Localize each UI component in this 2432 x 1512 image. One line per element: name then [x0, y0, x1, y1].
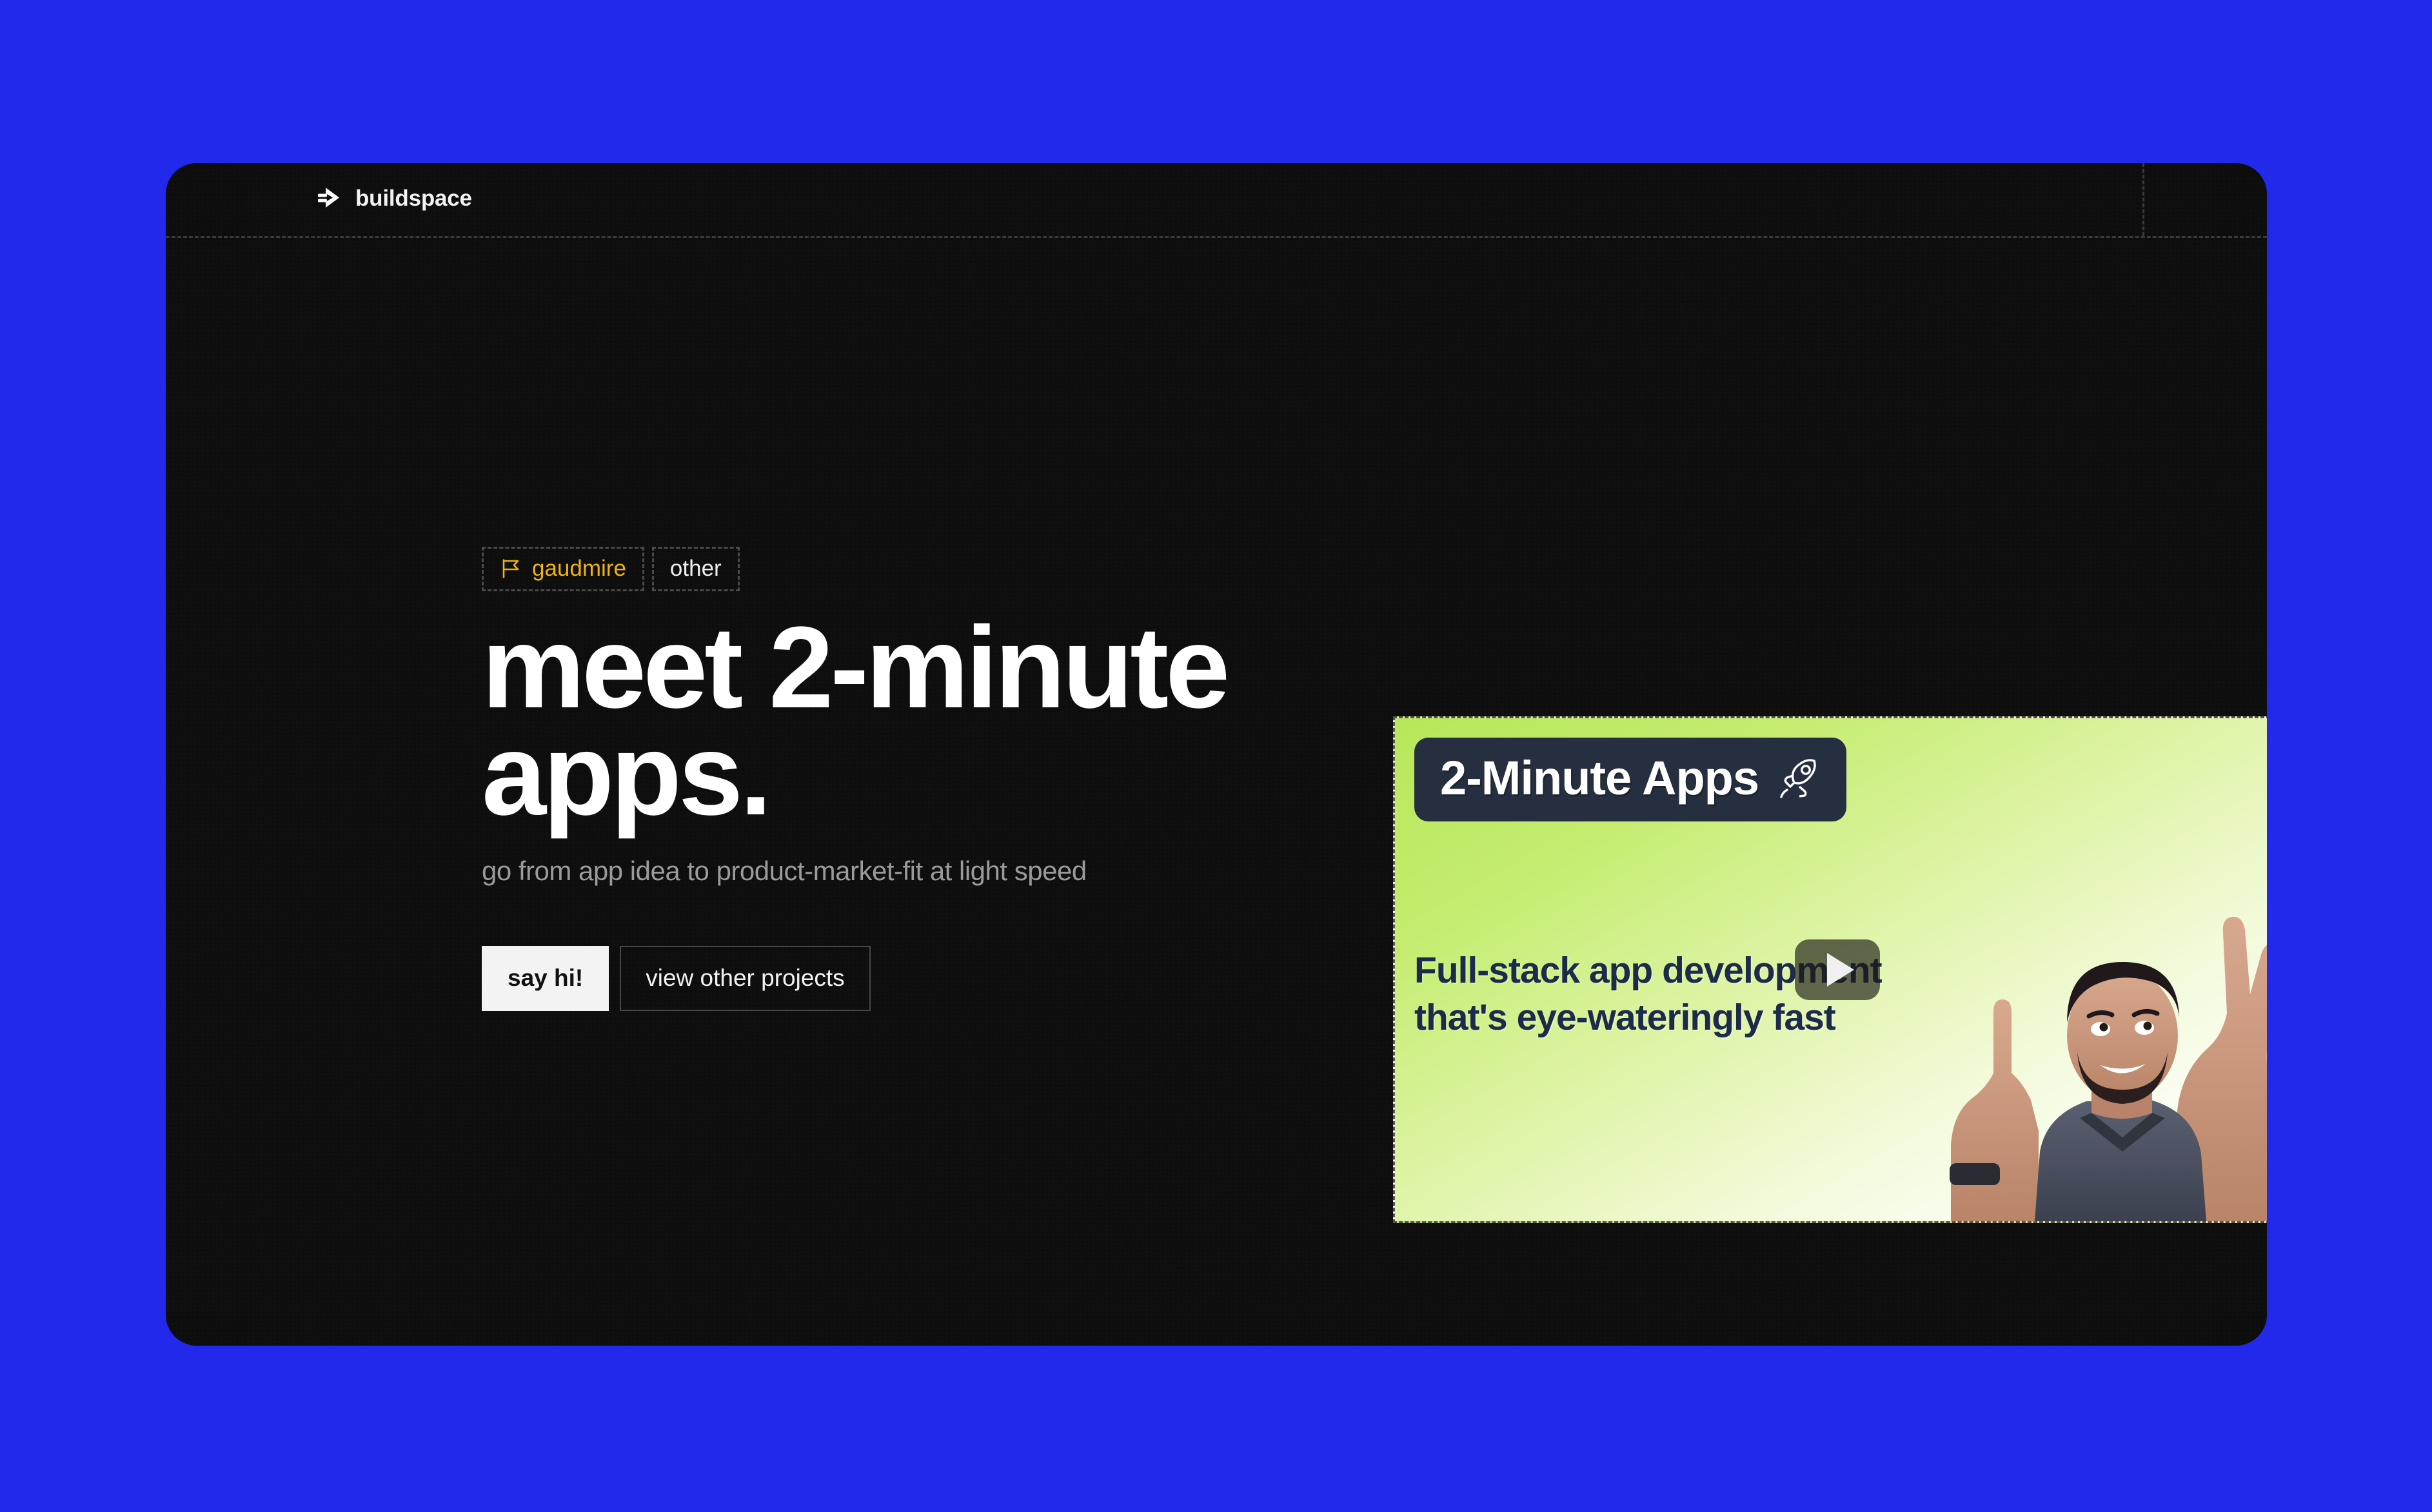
brand-name-label: buildspace: [355, 187, 472, 210]
thumbnail-title-badge: 2-Minute Apps: [1414, 738, 1846, 821]
header-vertical-divider: [2142, 163, 2144, 236]
brand-logo-link[interactable]: buildspace: [317, 184, 472, 211]
play-icon: [1827, 953, 1854, 987]
header-horizontal-divider: [166, 236, 2267, 238]
view-other-projects-button[interactable]: view other projects: [620, 946, 870, 1011]
site-header: buildspace: [166, 163, 2267, 236]
buildspace-arrow-logo-icon: [317, 184, 344, 211]
badge-other-label: other: [670, 557, 722, 580]
say-hi-button[interactable]: say hi!: [482, 946, 609, 1011]
play-button[interactable]: [1795, 939, 1880, 1000]
flag-icon: [500, 558, 522, 580]
video-thumbnail-image: 2-Minute Apps Full-stack app development…: [1395, 718, 2267, 1221]
project-card: buildspace gaudmire other meet 2-minute …: [166, 163, 2267, 1346]
cta-button-row: say hi! view other projects: [482, 946, 1320, 1011]
badge-row: gaudmire other: [482, 547, 1320, 591]
badge-gaudmire[interactable]: gaudmire: [482, 547, 644, 591]
badge-gaudmire-label: gaudmire: [532, 557, 626, 580]
badge-other[interactable]: other: [652, 547, 740, 591]
thumbnail-title-text: 2-Minute Apps: [1440, 754, 1759, 802]
thumbnail-headline-line-2: that's eye-wateringly fast: [1414, 994, 1882, 1041]
page-subtitle: go from app idea to product-market-fit a…: [482, 855, 1320, 887]
hero-content: gaudmire other meet 2-minute apps. go fr…: [482, 547, 1320, 1011]
presenter-photo: [1873, 860, 2267, 1221]
page-title: meet 2-minute apps.: [482, 614, 1288, 828]
rocket-icon: [1777, 756, 1821, 800]
video-thumbnail[interactable]: 2-Minute Apps Full-stack app development…: [1393, 716, 2267, 1223]
